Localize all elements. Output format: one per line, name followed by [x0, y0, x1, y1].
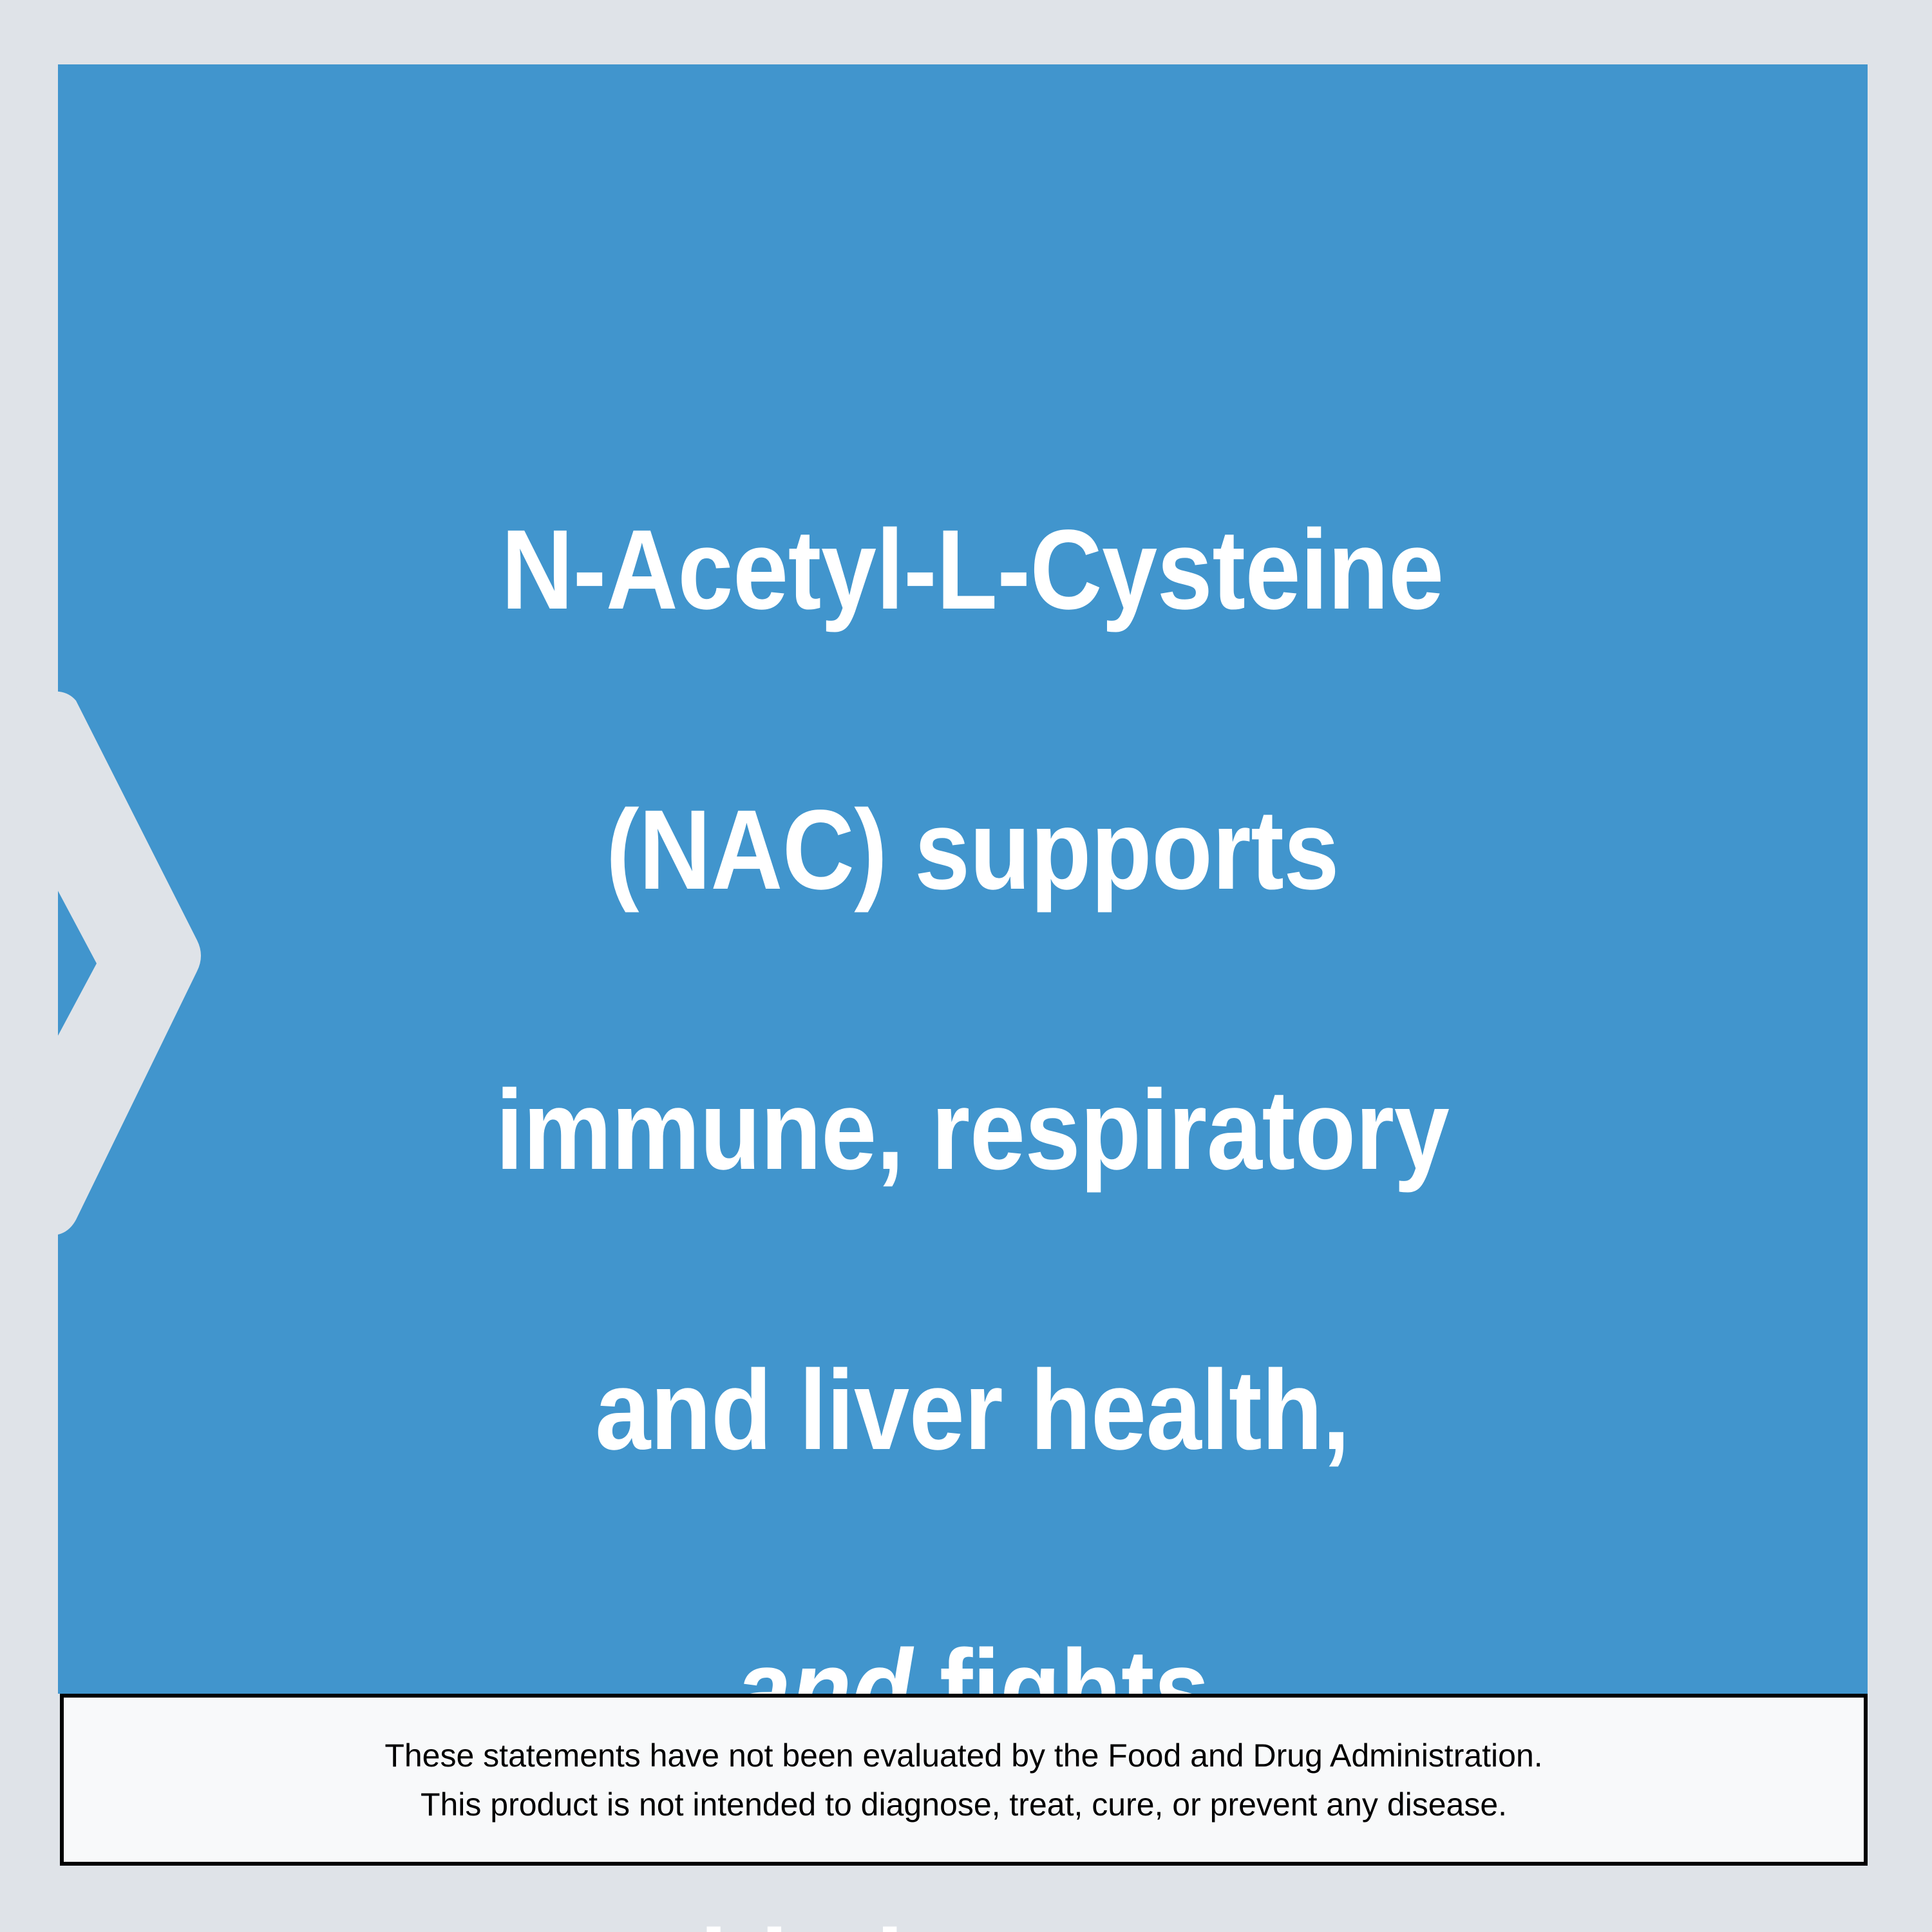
headline-line-4: and liver health,: [287, 1341, 1658, 1481]
headline-line-6: oxidative stress.: [287, 1900, 1658, 1932]
fda-disclaimer-box: These statements have not been evaluated…: [60, 1694, 1868, 1866]
promo-card: N-Acetyl-L-Cysteine (NAC) supports immun…: [0, 0, 1932, 1932]
headline-line-3: immune, respiratory: [287, 1061, 1658, 1200]
headline-line-1: N-Acetyl-L-Cysteine: [287, 500, 1658, 640]
headline-line-2: (NAC) supports: [287, 781, 1658, 920]
disclaimer-line-1: These statements have not been evaluated…: [384, 1731, 1542, 1780]
disclaimer-line-2: This product is not intended to diagnose…: [421, 1780, 1507, 1829]
